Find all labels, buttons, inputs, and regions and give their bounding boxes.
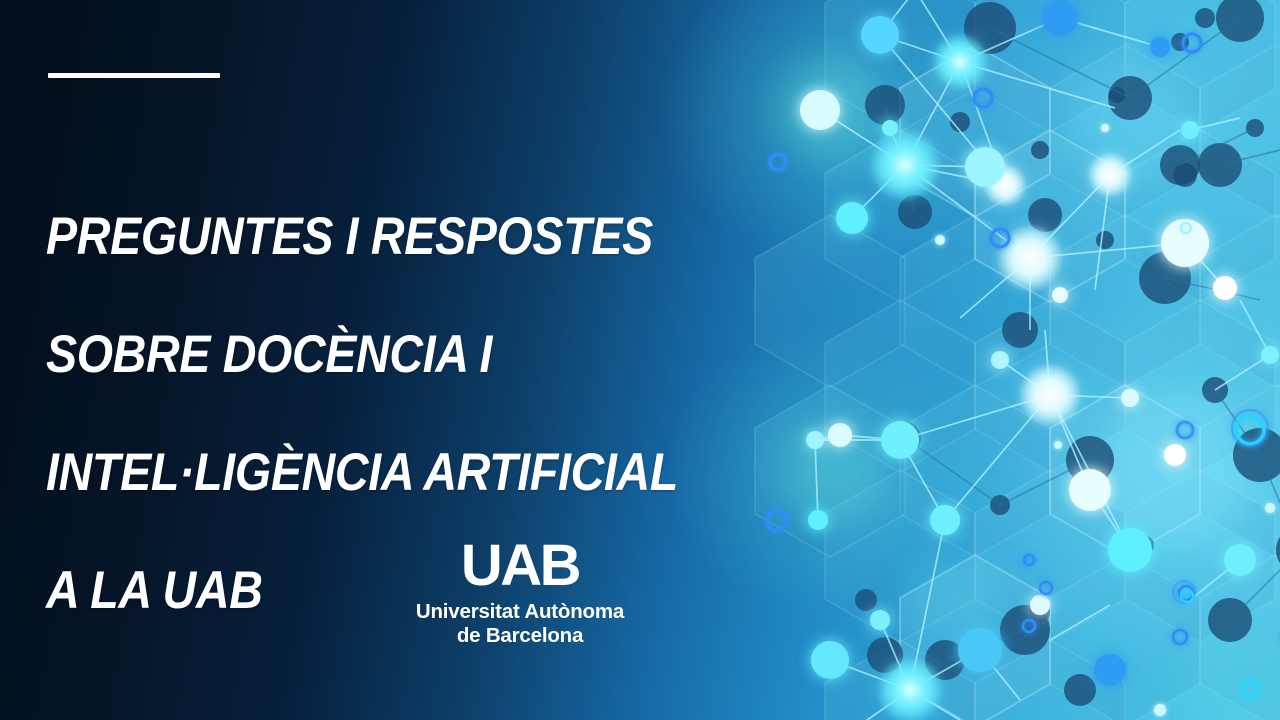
title-accent-rule: [48, 73, 220, 78]
title-line-1: PREGUNTES I RESPOSTES: [46, 207, 715, 266]
institution-line-2: de Barcelona: [300, 624, 740, 648]
title-line-3: INTEL·LIGÈNCIA ARTIFICIAL: [46, 443, 715, 502]
institution-line-1: Universitat Autònoma: [416, 600, 624, 623]
uab-logo: UAB Universitat Autònoma de Barcelona: [300, 537, 740, 648]
title-slide: PREGUNTES I RESPOSTES SOBRE DOCÈNCIA I I…: [0, 0, 1280, 720]
title-line-2: SOBRE DOCÈNCIA I: [46, 325, 715, 384]
uab-institution-name: Universitat Autònoma de Barcelona: [300, 600, 740, 648]
uab-wordmark: UAB: [300, 537, 740, 595]
